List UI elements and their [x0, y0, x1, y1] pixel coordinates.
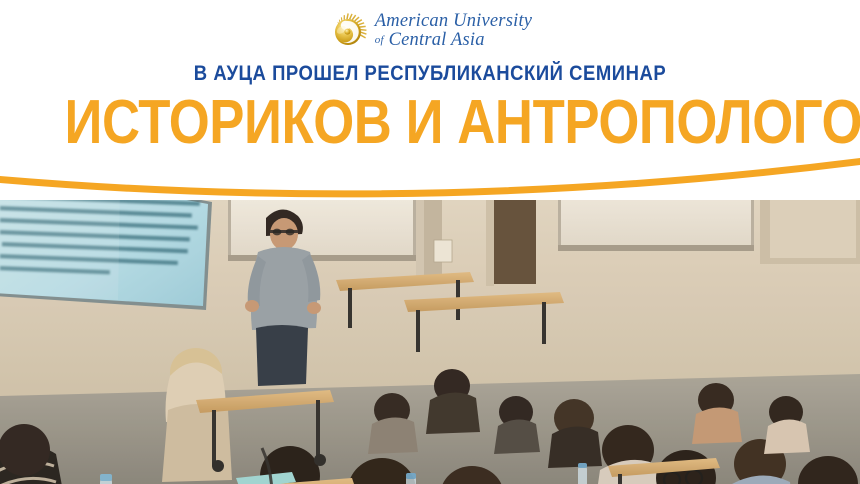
poster-header: American University of Central Asia В АУ…: [0, 0, 860, 200]
poster-kicker: В АУЦА ПРОШЕЛ РЕСПУБЛИКАНСКИЙ СЕМИНАР: [52, 62, 809, 86]
logo-line-2: of Central Asia: [375, 31, 532, 50]
logo-line-1: American University: [375, 12, 532, 31]
poster-card: American University of Central Asia В АУ…: [0, 0, 860, 484]
poster-headline: ИСТОРИКОВ И АНТРОПОЛОГОВ: [65, 92, 796, 154]
auca-logo: American University of Central Asia: [0, 8, 860, 54]
logo-of-word: of: [375, 34, 384, 46]
logo-line-2-text: Central Asia: [389, 30, 485, 50]
auca-logo-wordmark: American University of Central Asia: [375, 12, 532, 50]
aum-spiral-sunburst-logo-icon: [328, 11, 368, 51]
seminar-photo: [0, 160, 860, 484]
